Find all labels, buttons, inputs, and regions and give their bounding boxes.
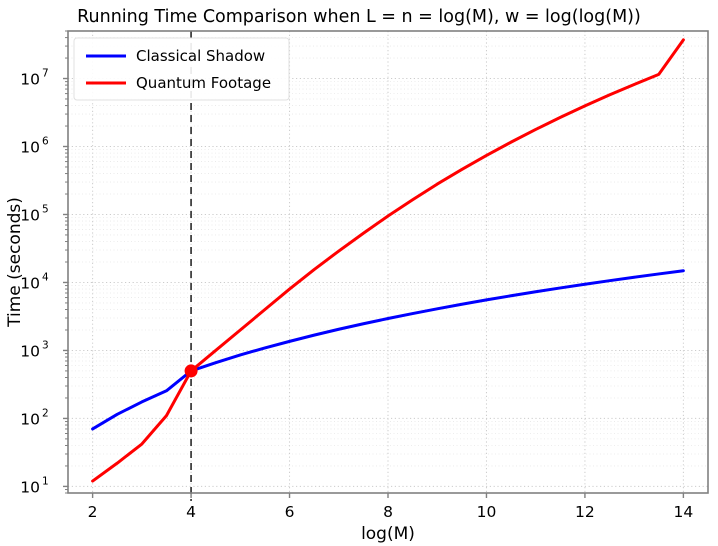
y-tick-base: 10 [20, 342, 40, 360]
x-tick-label-6: 6 [285, 503, 295, 521]
intersection-marker [185, 364, 198, 377]
y-tick-exponent: 2 [42, 407, 49, 419]
y-tick-exponent: 4 [42, 271, 49, 283]
y-tick-base: 10 [20, 478, 40, 496]
intersection-marker [185, 364, 198, 377]
x-tick-label-8: 8 [383, 503, 393, 521]
x-tick-label-4: 4 [186, 503, 196, 521]
y-tick-label-10^2: 102 [20, 407, 48, 428]
y-tick-base: 10 [20, 139, 40, 157]
y-tick-base: 10 [20, 410, 40, 428]
y-tick-exponent: 5 [42, 203, 49, 215]
x-tick-label-14: 14 [674, 503, 694, 521]
x-tick-label-12: 12 [575, 503, 595, 521]
y-tick-label-10^3: 103 [20, 339, 48, 360]
x-tick-label-10: 10 [477, 503, 497, 521]
x-axis-label: log(M) [361, 524, 415, 544]
y-tick-exponent: 6 [42, 136, 49, 148]
x-axis-tick-labels: 2468101214 [88, 503, 694, 521]
chart-title: Running Time Comparison when L = n = log… [77, 7, 641, 27]
y-tick-exponent: 3 [42, 339, 49, 351]
y-tick-exponent: 7 [42, 68, 49, 80]
y-tick-label-10^6: 106 [20, 136, 49, 157]
legend-label-classical-shadow: Classical Shadow [136, 47, 265, 65]
running-time-comparison-chart: 2468101214 101102103104105106107 Running… [0, 0, 718, 546]
legend-label-quantum-footage: Quantum Footage [136, 74, 271, 92]
y-tick-exponent: 1 [42, 475, 49, 487]
x-tick-label-2: 2 [88, 503, 98, 521]
y-tick-label-10^7: 107 [20, 68, 48, 89]
y-axis-label: Time (seconds) [5, 197, 25, 328]
y-tick-base: 10 [20, 71, 40, 89]
chart-legend[interactable]: Classical Shadow Quantum Footage [74, 38, 289, 100]
y-tick-label-10^1: 101 [20, 475, 48, 496]
chart-figure: 2468101214 101102103104105106107 Running… [0, 0, 718, 546]
